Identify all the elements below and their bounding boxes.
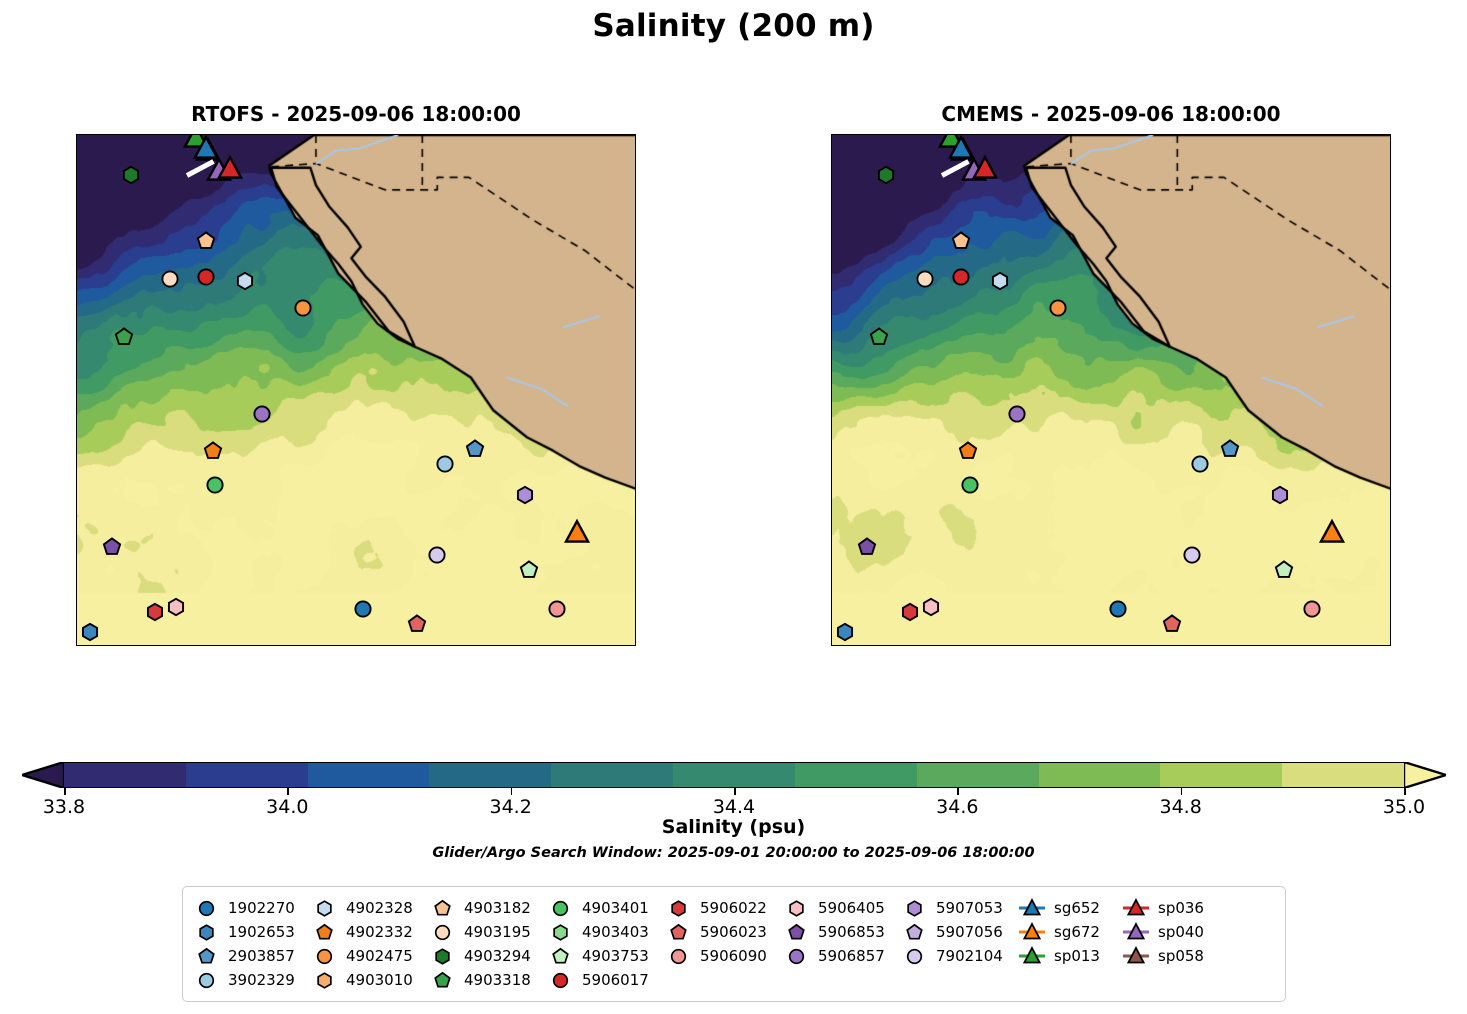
colorbar-gradient (64, 762, 1404, 788)
lon-tick (161, 134, 163, 135)
lon-minor-tick (245, 645, 247, 646)
legend-column: 4903182490319549032944903318 (429, 896, 547, 992)
legend-column: 590602259060235906090 (665, 896, 783, 992)
argo-float-icon (193, 900, 219, 917)
colorbar-tick (1181, 788, 1183, 795)
lon-tick (1140, 134, 1142, 135)
legend-spacer (1123, 968, 1227, 992)
lat-minor-tick (76, 245, 77, 247)
lat-minor-tick (831, 360, 832, 362)
legend-item[interactable]: 5906023 (665, 920, 783, 944)
argo-float-icon (429, 900, 455, 917)
legend-item[interactable]: 5906090 (665, 944, 783, 968)
legend-item[interactable]: 5906017 (547, 968, 665, 992)
legend-item[interactable]: 5907053 (901, 896, 1019, 920)
lon-tick (329, 645, 331, 646)
lon-minor-tick (1000, 134, 1002, 135)
lon-minor-tick (245, 134, 247, 135)
lon-tick (1084, 134, 1086, 135)
lon-minor-tick (581, 645, 583, 646)
lon-tick (860, 645, 862, 646)
legend-item[interactable]: 5907056 (901, 920, 1019, 944)
lat-minor-tick (635, 418, 636, 420)
argo-float-icon (783, 948, 809, 965)
legend-label: 4902328 (337, 899, 413, 917)
lat-tick (1390, 331, 1391, 333)
legend-column: 4902328490233249024754903010 (311, 896, 429, 992)
lat-tick (1390, 274, 1391, 276)
argo-marker-4903182[interactable] (196, 231, 215, 250)
legend-label: 5906090 (691, 947, 767, 965)
legend-item[interactable]: 5906405 (783, 896, 901, 920)
argo-marker-5906023[interactable] (1162, 614, 1181, 633)
legend-item[interactable]: 5906022 (665, 896, 783, 920)
lat-minor-tick (76, 591, 77, 593)
colorbar-extend-max (1404, 762, 1446, 788)
lat-tick (76, 158, 77, 160)
legend-column: sg652sg672sp013 (1019, 896, 1123, 992)
argo-float-icon (547, 972, 573, 989)
colorbar-segment (551, 763, 673, 787)
lat-minor-tick (635, 476, 636, 478)
legend-label: sp013 (1045, 947, 1100, 965)
legend-item[interactable]: sg652 (1019, 896, 1123, 920)
legend-label: 4903010 (337, 971, 413, 989)
lon-tick (1252, 645, 1254, 646)
argo-marker-5906090[interactable] (1302, 599, 1321, 618)
colorbar-tick (1404, 788, 1406, 795)
lat-minor-tick (635, 533, 636, 535)
argo-float-icon (193, 948, 219, 965)
lon-minor-tick (944, 134, 946, 135)
legend-item[interactable]: 4902475 (311, 944, 429, 968)
glider-track-icon (1123, 898, 1149, 918)
argo-float-icon (311, 900, 337, 917)
lon-tick (385, 134, 387, 135)
lat-minor-tick (635, 591, 636, 593)
legend-column: 590705359070567902104 (901, 896, 1019, 992)
argo-marker-5906853[interactable] (858, 537, 877, 556)
legend-item[interactable]: 4903294 (429, 944, 547, 968)
lat-tick (831, 447, 832, 449)
argo-float-icon (901, 924, 927, 941)
legend-item[interactable]: 4903401 (547, 896, 665, 920)
lat-minor-tick (831, 533, 832, 535)
argo-marker-7902104[interactable] (1183, 545, 1202, 564)
argo-marker-5906857[interactable] (1007, 405, 1026, 424)
lat-tick (635, 505, 636, 507)
argo-marker-4903195[interactable] (916, 270, 935, 289)
argo-marker-4902475[interactable] (1048, 299, 1067, 318)
argo-marker-1902653[interactable] (836, 622, 855, 641)
argo-marker-4903182[interactable] (951, 231, 970, 250)
lon-minor-tick (1168, 645, 1170, 646)
lat-tick (76, 274, 77, 276)
argo-marker-5906022[interactable] (146, 603, 165, 622)
legend-label: sp036 (1149, 899, 1204, 917)
glider-marker-sg672[interactable] (565, 520, 589, 544)
argo-marker-5907053[interactable] (516, 485, 535, 504)
lat-minor-tick (1390, 302, 1391, 304)
lon-tick (273, 645, 275, 646)
lat-minor-tick (76, 302, 77, 304)
lat-tick (76, 620, 77, 622)
colorbar-tick (287, 788, 289, 795)
legend-item[interactable]: 3902329 (193, 968, 311, 992)
colorbar-tick (957, 788, 959, 795)
colorbar-tick-label: 34.8 (1160, 796, 1202, 818)
colorbar-tick-label: 34.2 (490, 796, 532, 818)
argo-marker-5906405[interactable] (921, 597, 940, 616)
lon-tick (385, 645, 387, 646)
lon-minor-tick (1224, 134, 1226, 135)
colorbar-segment (673, 763, 795, 787)
lat-minor-tick (831, 418, 832, 420)
argo-marker-3902329[interactable] (435, 455, 454, 474)
legend-item[interactable]: 5906853 (783, 920, 901, 944)
legend-item[interactable]: 4902332 (311, 920, 429, 944)
lon-tick (1308, 645, 1310, 646)
lon-minor-tick (1112, 134, 1114, 135)
legend-spacer (665, 968, 783, 992)
lon-tick (441, 134, 443, 135)
argo-marker-4903318[interactable] (869, 328, 888, 347)
panel-title-rtofs: RTOFS - 2025-09-06 18:00:00 (76, 102, 636, 126)
lon-tick (553, 645, 555, 646)
legend-item[interactable]: sp013 (1019, 944, 1123, 968)
lon-minor-tick (189, 645, 191, 646)
legend-label: 5907056 (927, 923, 1003, 941)
lon-tick (1196, 645, 1198, 646)
argo-marker-5907053[interactable] (1271, 485, 1290, 504)
legend-label: 4903403 (573, 923, 649, 941)
argo-marker-4902332[interactable] (959, 441, 978, 460)
lat-tick (1390, 562, 1391, 564)
argo-marker-4903195[interactable] (161, 270, 180, 289)
legend-label: 4902475 (337, 947, 413, 965)
lat-minor-tick (831, 245, 832, 247)
lon-tick (1364, 645, 1366, 646)
legend-item[interactable]: sp036 (1123, 896, 1227, 920)
lon-tick (972, 645, 974, 646)
legend-item[interactable]: sp058 (1123, 944, 1227, 968)
argo-float-icon (311, 972, 337, 989)
argo-marker-5906017[interactable] (951, 268, 970, 287)
map-panel-rtofs: RTOFS - 2025-09-06 18:00:00 33°N33°N30°N… (76, 134, 636, 646)
lon-tick (217, 134, 219, 135)
lon-tick (1028, 134, 1030, 135)
argo-marker-4903401[interactable] (206, 476, 225, 495)
legend-label: 2903857 (219, 947, 295, 965)
lon-tick (609, 645, 611, 646)
glider-track-icon (1019, 946, 1045, 966)
legend-item[interactable]: 4902328 (311, 896, 429, 920)
lon-tick (497, 134, 499, 135)
lat-tick (831, 562, 832, 564)
legend-label: 4903182 (455, 899, 531, 917)
legend-item[interactable]: 7902104 (901, 944, 1019, 968)
lon-minor-tick (77, 134, 79, 135)
argo-marker-4902475[interactable] (293, 299, 312, 318)
lat-tick (831, 389, 832, 391)
colorbar-segment (186, 763, 308, 787)
lat-tick (831, 505, 832, 507)
legend-label: 4903294 (455, 947, 531, 965)
lat-minor-tick (635, 187, 636, 189)
legend-item[interactable]: 2903857 (193, 944, 311, 968)
legend-item[interactable]: 4903195 (429, 920, 547, 944)
legend-item[interactable]: 4903318 (429, 968, 547, 992)
argo-marker-3902329[interactable] (1190, 455, 1209, 474)
argo-marker-4902328[interactable] (236, 272, 255, 291)
lat-tick (76, 562, 77, 564)
lon-tick (916, 645, 918, 646)
lon-minor-tick (133, 134, 135, 135)
lon-tick (217, 645, 219, 646)
legend-item[interactable]: 4903403 (547, 920, 665, 944)
colorbar-tick-label: 35.0 (1383, 796, 1425, 818)
legend-label: sg652 (1045, 899, 1100, 917)
figure-title: Salinity (200 m) (0, 8, 1467, 44)
legend-item[interactable]: 5906857 (783, 944, 901, 968)
argo-float-icon (783, 900, 809, 917)
lat-minor-tick (76, 418, 77, 420)
lon-minor-tick (1336, 134, 1338, 135)
argo-marker-4903401[interactable] (961, 476, 980, 495)
glider-marker-sp036[interactable] (218, 156, 242, 180)
lat-minor-tick (76, 187, 77, 189)
lat-tick (1390, 158, 1391, 160)
lat-tick (635, 447, 636, 449)
glider-marker-sg652[interactable] (194, 136, 218, 160)
lon-tick (1084, 645, 1086, 646)
lon-minor-tick (525, 645, 527, 646)
argo-float-icon (783, 924, 809, 941)
argo-marker-4903318[interactable] (114, 328, 133, 347)
lat-tick (76, 447, 77, 449)
lat-minor-tick (831, 591, 832, 593)
lat-tick (831, 331, 832, 333)
lat-minor-tick (1390, 245, 1391, 247)
legend-label: 4903753 (573, 947, 649, 965)
argo-marker-5906405[interactable] (166, 597, 185, 616)
colorbar-extend-min (22, 762, 64, 788)
lat-tick (635, 158, 636, 160)
lon-tick (1028, 645, 1030, 646)
lon-tick (1196, 134, 1198, 135)
argo-marker-2903857[interactable] (1220, 439, 1239, 458)
argo-float-icon (193, 972, 219, 989)
legend-item[interactable]: 4903010 (311, 968, 429, 992)
lat-tick (1390, 389, 1391, 391)
colorbar-tick-label: 34.6 (936, 796, 978, 818)
salinity-field-rtofs (77, 135, 636, 646)
argo-float-icon (429, 924, 455, 941)
lat-minor-tick (1390, 591, 1391, 593)
lon-minor-tick (1056, 645, 1058, 646)
glider-marker-sp036[interactable] (973, 156, 997, 180)
colorbar-segment (429, 763, 551, 787)
argo-marker-5906022[interactable] (901, 603, 920, 622)
lon-minor-tick (301, 645, 303, 646)
lat-tick (831, 274, 832, 276)
lon-minor-tick (357, 645, 359, 646)
argo-marker-4902332[interactable] (204, 441, 223, 460)
lon-tick (609, 134, 611, 135)
colorbar: 33.834.034.234.434.634.835.0 (22, 760, 1446, 794)
legend-label: 4903195 (455, 923, 531, 941)
lat-minor-tick (1390, 418, 1391, 420)
lon-tick (105, 134, 107, 135)
colorbar-segment (308, 763, 430, 787)
lat-minor-tick (635, 302, 636, 304)
legend-item[interactable]: 1902270 (193, 896, 311, 920)
search-window-note: Glider/Argo Search Window: 2025-09-01 20… (0, 845, 1467, 861)
lon-minor-tick (1168, 134, 1170, 135)
legend-item[interactable]: 4903182 (429, 896, 547, 920)
lat-tick (635, 389, 636, 391)
glider-marker-sg672[interactable] (1320, 520, 1344, 544)
legend-label: 5906405 (809, 899, 885, 917)
legend-label: 3902329 (219, 971, 295, 989)
legend-item[interactable]: sg672 (1019, 920, 1123, 944)
legend-label: 7902104 (927, 947, 1003, 965)
lon-minor-tick (1224, 645, 1226, 646)
panel-title-cmems: CMEMS - 2025-09-06 18:00:00 (831, 102, 1391, 126)
argo-float-icon (547, 948, 573, 965)
lat-tick (831, 158, 832, 160)
lon-tick (972, 134, 974, 135)
lon-minor-tick (888, 134, 890, 135)
lon-minor-tick (944, 645, 946, 646)
lon-tick (329, 134, 331, 135)
lon-tick (441, 645, 443, 646)
argo-marker-4903753[interactable] (519, 561, 538, 580)
legend-column: 590640559068535906857 (783, 896, 901, 992)
map-canvas-cmems[interactable]: 33°N33°N30°N30°N27°N27°N24°N24°N21°N21°N… (831, 134, 1391, 646)
lat-tick (76, 389, 77, 391)
legend-item[interactable]: 4903753 (547, 944, 665, 968)
map-panel-cmems: CMEMS - 2025-09-06 18:00:00 33°N33°N30°N… (831, 134, 1391, 646)
argo-marker-5906023[interactable] (407, 614, 426, 633)
argo-float-icon (429, 972, 455, 989)
legend-label: 5906023 (691, 923, 767, 941)
platform-legend[interactable]: 1902270190265329038573902329490232849023… (182, 886, 1286, 1002)
glider-track-icon (1123, 922, 1149, 942)
legend-label: 4903318 (455, 971, 531, 989)
legend-column: 4903401490340349037535906017 (547, 896, 665, 992)
legend-label: sg672 (1045, 923, 1100, 941)
argo-float-icon (311, 948, 337, 965)
legend-column: 1902270190265329038573902329 (193, 896, 311, 992)
legend-spacer (783, 968, 901, 992)
lon-minor-tick (1112, 645, 1114, 646)
lat-minor-tick (1390, 476, 1391, 478)
lat-minor-tick (635, 360, 636, 362)
argo-float-icon (665, 900, 691, 917)
argo-marker-5906853[interactable] (103, 537, 122, 556)
lat-tick (635, 620, 636, 622)
argo-float-icon (547, 924, 573, 941)
lat-tick (635, 562, 636, 564)
lon-minor-tick (357, 134, 359, 135)
argo-marker-4903294[interactable] (122, 166, 141, 185)
lat-minor-tick (1390, 187, 1391, 189)
lon-minor-tick (888, 645, 890, 646)
colorbar-segment (64, 763, 186, 787)
lon-minor-tick (77, 645, 79, 646)
lon-minor-tick (581, 134, 583, 135)
lat-tick (1390, 505, 1391, 507)
argo-marker-4903753[interactable] (1274, 561, 1293, 580)
legend-label: 5907053 (927, 899, 1003, 917)
argo-marker-5906857[interactable] (252, 405, 271, 424)
colorbar-segment (1282, 763, 1404, 787)
colorbar-tick (511, 788, 513, 795)
argo-marker-4903294[interactable] (877, 166, 896, 185)
lon-tick (1364, 134, 1366, 135)
lat-minor-tick (76, 476, 77, 478)
lon-minor-tick (1280, 645, 1282, 646)
lon-tick (1308, 134, 1310, 135)
argo-marker-7902104[interactable] (428, 545, 447, 564)
lon-minor-tick (1336, 645, 1338, 646)
colorbar-segment (1160, 763, 1282, 787)
lon-minor-tick (525, 134, 527, 135)
argo-marker-1902270[interactable] (1108, 599, 1127, 618)
lat-tick (1390, 447, 1391, 449)
lat-minor-tick (831, 476, 832, 478)
legend-item[interactable]: 1902653 (193, 920, 311, 944)
legend-label: 5906857 (809, 947, 885, 965)
argo-float-icon (547, 900, 573, 917)
argo-float-icon (665, 948, 691, 965)
lon-minor-tick (832, 134, 834, 135)
lat-tick (635, 274, 636, 276)
glider-track-icon (1019, 922, 1045, 942)
legend-spacer (901, 968, 1019, 992)
lon-minor-tick (469, 134, 471, 135)
lon-tick (161, 645, 163, 646)
lat-minor-tick (635, 245, 636, 247)
legend-label: 5906022 (691, 899, 767, 917)
lon-minor-tick (413, 645, 415, 646)
argo-float-icon (193, 924, 219, 941)
argo-marker-5906090[interactable] (547, 599, 566, 618)
lon-minor-tick (189, 134, 191, 135)
argo-marker-1902653[interactable] (81, 622, 100, 641)
lon-minor-tick (832, 645, 834, 646)
legend-item[interactable]: sp040 (1123, 920, 1227, 944)
argo-marker-4902328[interactable] (991, 272, 1010, 291)
lat-tick (76, 216, 77, 218)
argo-marker-1902270[interactable] (353, 599, 372, 618)
argo-marker-5906017[interactable] (196, 268, 215, 287)
lon-tick (1252, 134, 1254, 135)
map-canvas-rtofs[interactable]: 33°N33°N30°N30°N27°N27°N24°N24°N21°N21°N… (76, 134, 636, 646)
legend-label: 4903401 (573, 899, 649, 917)
lat-minor-tick (831, 187, 832, 189)
colorbar-segment (795, 763, 917, 787)
legend-spacer (1019, 968, 1123, 992)
lat-minor-tick (1390, 360, 1391, 362)
colorbar-tick (734, 788, 736, 795)
legend-label: 1902653 (219, 923, 295, 941)
glider-marker-sg652[interactable] (949, 136, 973, 160)
argo-marker-2903857[interactable] (465, 439, 484, 458)
argo-float-icon (901, 948, 927, 965)
lon-minor-tick (1056, 134, 1058, 135)
